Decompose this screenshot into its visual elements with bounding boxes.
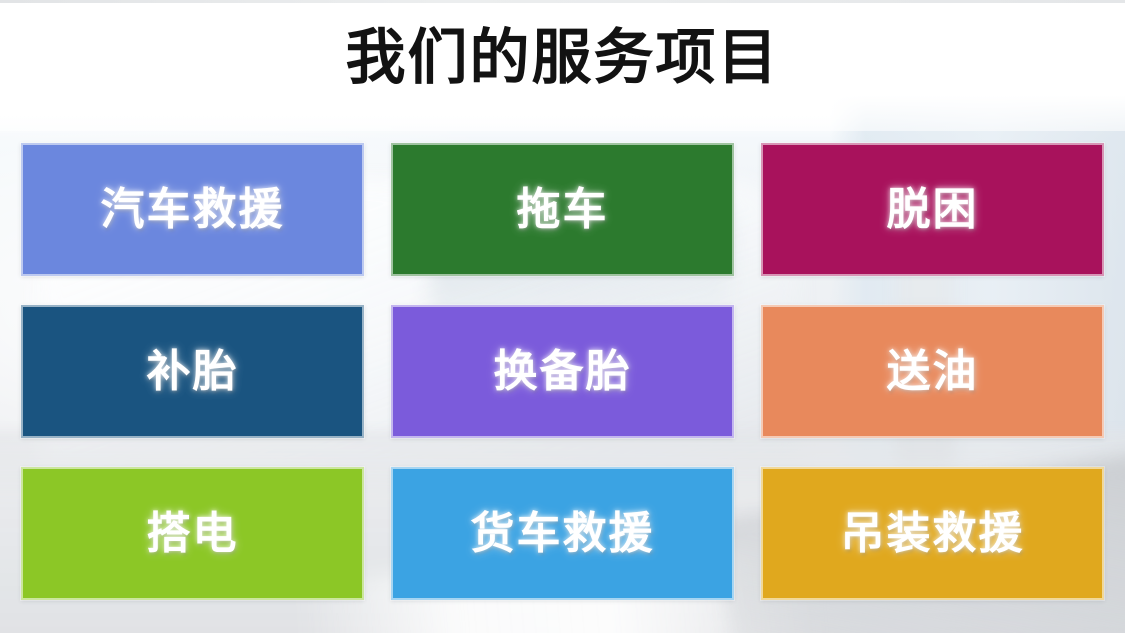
poster-content: 我们的服务项目 汽车救援拖车脱困补胎换备胎送油搭电货车救援吊装救援 [0, 0, 1125, 633]
service-tile-label: 汽车救援 [101, 188, 285, 232]
service-tile-label: 换备胎 [494, 350, 632, 394]
tile-crane-rescue[interactable]: 吊装救援 [761, 467, 1104, 600]
tile-car-rescue[interactable]: 汽车救援 [21, 143, 364, 276]
service-items-poster: 我们的服务项目 汽车救援拖车脱困补胎换备胎送油搭电货车救援吊装救援 [0, 0, 1125, 633]
page-title: 我们的服务项目 [0, 22, 1125, 94]
tile-tire-repair[interactable]: 补胎 [21, 305, 364, 438]
service-tile-label: 搭电 [147, 512, 239, 556]
tile-fuel-delivery[interactable]: 送油 [761, 305, 1104, 438]
tile-towing[interactable]: 拖车 [391, 143, 734, 276]
service-tile-label: 吊装救援 [841, 512, 1025, 556]
service-tile-label: 拖车 [517, 188, 609, 232]
service-tile-label: 送油 [887, 350, 979, 394]
service-tile-label: 脱困 [887, 188, 979, 232]
tile-spare-tire-change[interactable]: 换备胎 [391, 305, 734, 438]
service-tile-label: 补胎 [147, 350, 239, 394]
tile-extrication[interactable]: 脱困 [761, 143, 1104, 276]
tile-truck-rescue[interactable]: 货车救援 [391, 467, 734, 600]
tile-jump-start[interactable]: 搭电 [21, 467, 364, 600]
service-tile-grid: 汽车救援拖车脱困补胎换备胎送油搭电货车救援吊装救援 [21, 143, 1104, 600]
service-tile-label: 货车救援 [471, 512, 655, 556]
